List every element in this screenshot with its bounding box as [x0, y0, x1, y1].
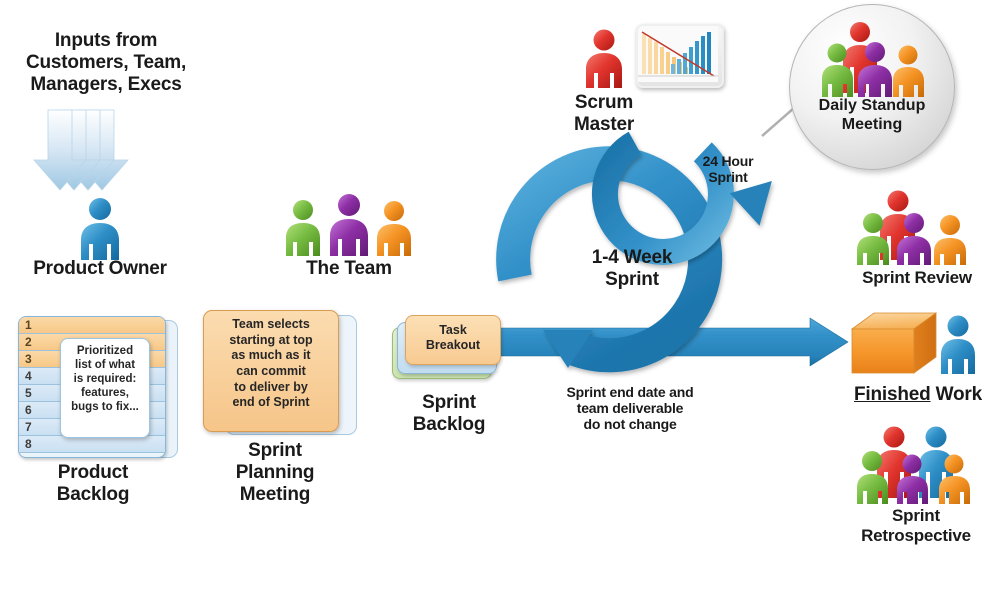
product-owner-icon [73, 196, 127, 262]
standup-person-orange [893, 46, 924, 98]
review-person-orange [934, 215, 966, 265]
finished-work-label: Finished Work [842, 384, 994, 406]
sprint-backlog-group: Task Breakout [392, 315, 512, 387]
product-backlog-label: Product Backlog [10, 462, 176, 506]
inputs-heading: Inputs from Customers, Team, Managers, E… [0, 30, 212, 96]
inner-sprint-label: 24 Hour Sprint [677, 153, 779, 185]
team-icon [283, 192, 415, 258]
sprint-review-label: Sprint Review [842, 268, 992, 288]
scrum-diagram-canvas: Inputs from Customers, Team, Managers, E… [0, 0, 994, 589]
team-member-purple [330, 194, 368, 256]
sprint-backlog-label: Sprint Backlog [374, 392, 524, 436]
backlog-row: 1 [19, 317, 165, 334]
sprint-cycle-spiral [497, 108, 797, 348]
sprint-note-text: Sprint end date and team deliverable do … [524, 384, 736, 432]
team-label: The Team [259, 258, 439, 280]
scrum-master-icon [578, 28, 630, 90]
daily-standup-label: Daily Standup Meeting [790, 97, 954, 135]
team-member-orange [377, 201, 411, 256]
finished-work-label-underlined: Finished [854, 384, 931, 405]
sprint-planning-group: Team selects starting at top as much as … [203, 310, 361, 437]
inputs-arrows-group [40, 108, 178, 196]
daily-standup-circle: Daily Standup Meeting [789, 4, 955, 170]
sprint-planning-label: Sprint Planning Meeting [192, 440, 358, 506]
finished-work-label-plain: Work [931, 384, 982, 405]
product-backlog-group: 1 2 3 4 5 6 7 8 Prioritized list of what… [16, 316, 178, 459]
scrum-master-label: Scrum Master [544, 92, 664, 136]
backlog-row: 8 [19, 436, 165, 453]
sprint-retrospective-icon [854, 426, 980, 508]
finished-work-person-icon [934, 314, 982, 376]
sprint-planning-card: Team selects starting at top as much as … [203, 310, 339, 432]
sprint-review-icon [852, 190, 972, 268]
team-member-green [286, 200, 320, 256]
outer-sprint-label: 1-4 Week Sprint [562, 247, 702, 291]
burndown-chart-icon [636, 24, 724, 88]
product-owner-label: Product Owner [10, 258, 190, 280]
daily-standup-icon [818, 21, 928, 101]
sprint-retrospective-label: Sprint Retrospective [838, 506, 994, 545]
task-breakout-card: Task Breakout [405, 315, 501, 365]
product-backlog-note: Prioritized list of what is required: fe… [60, 338, 150, 438]
finished-work-box-icon [848, 311, 938, 377]
